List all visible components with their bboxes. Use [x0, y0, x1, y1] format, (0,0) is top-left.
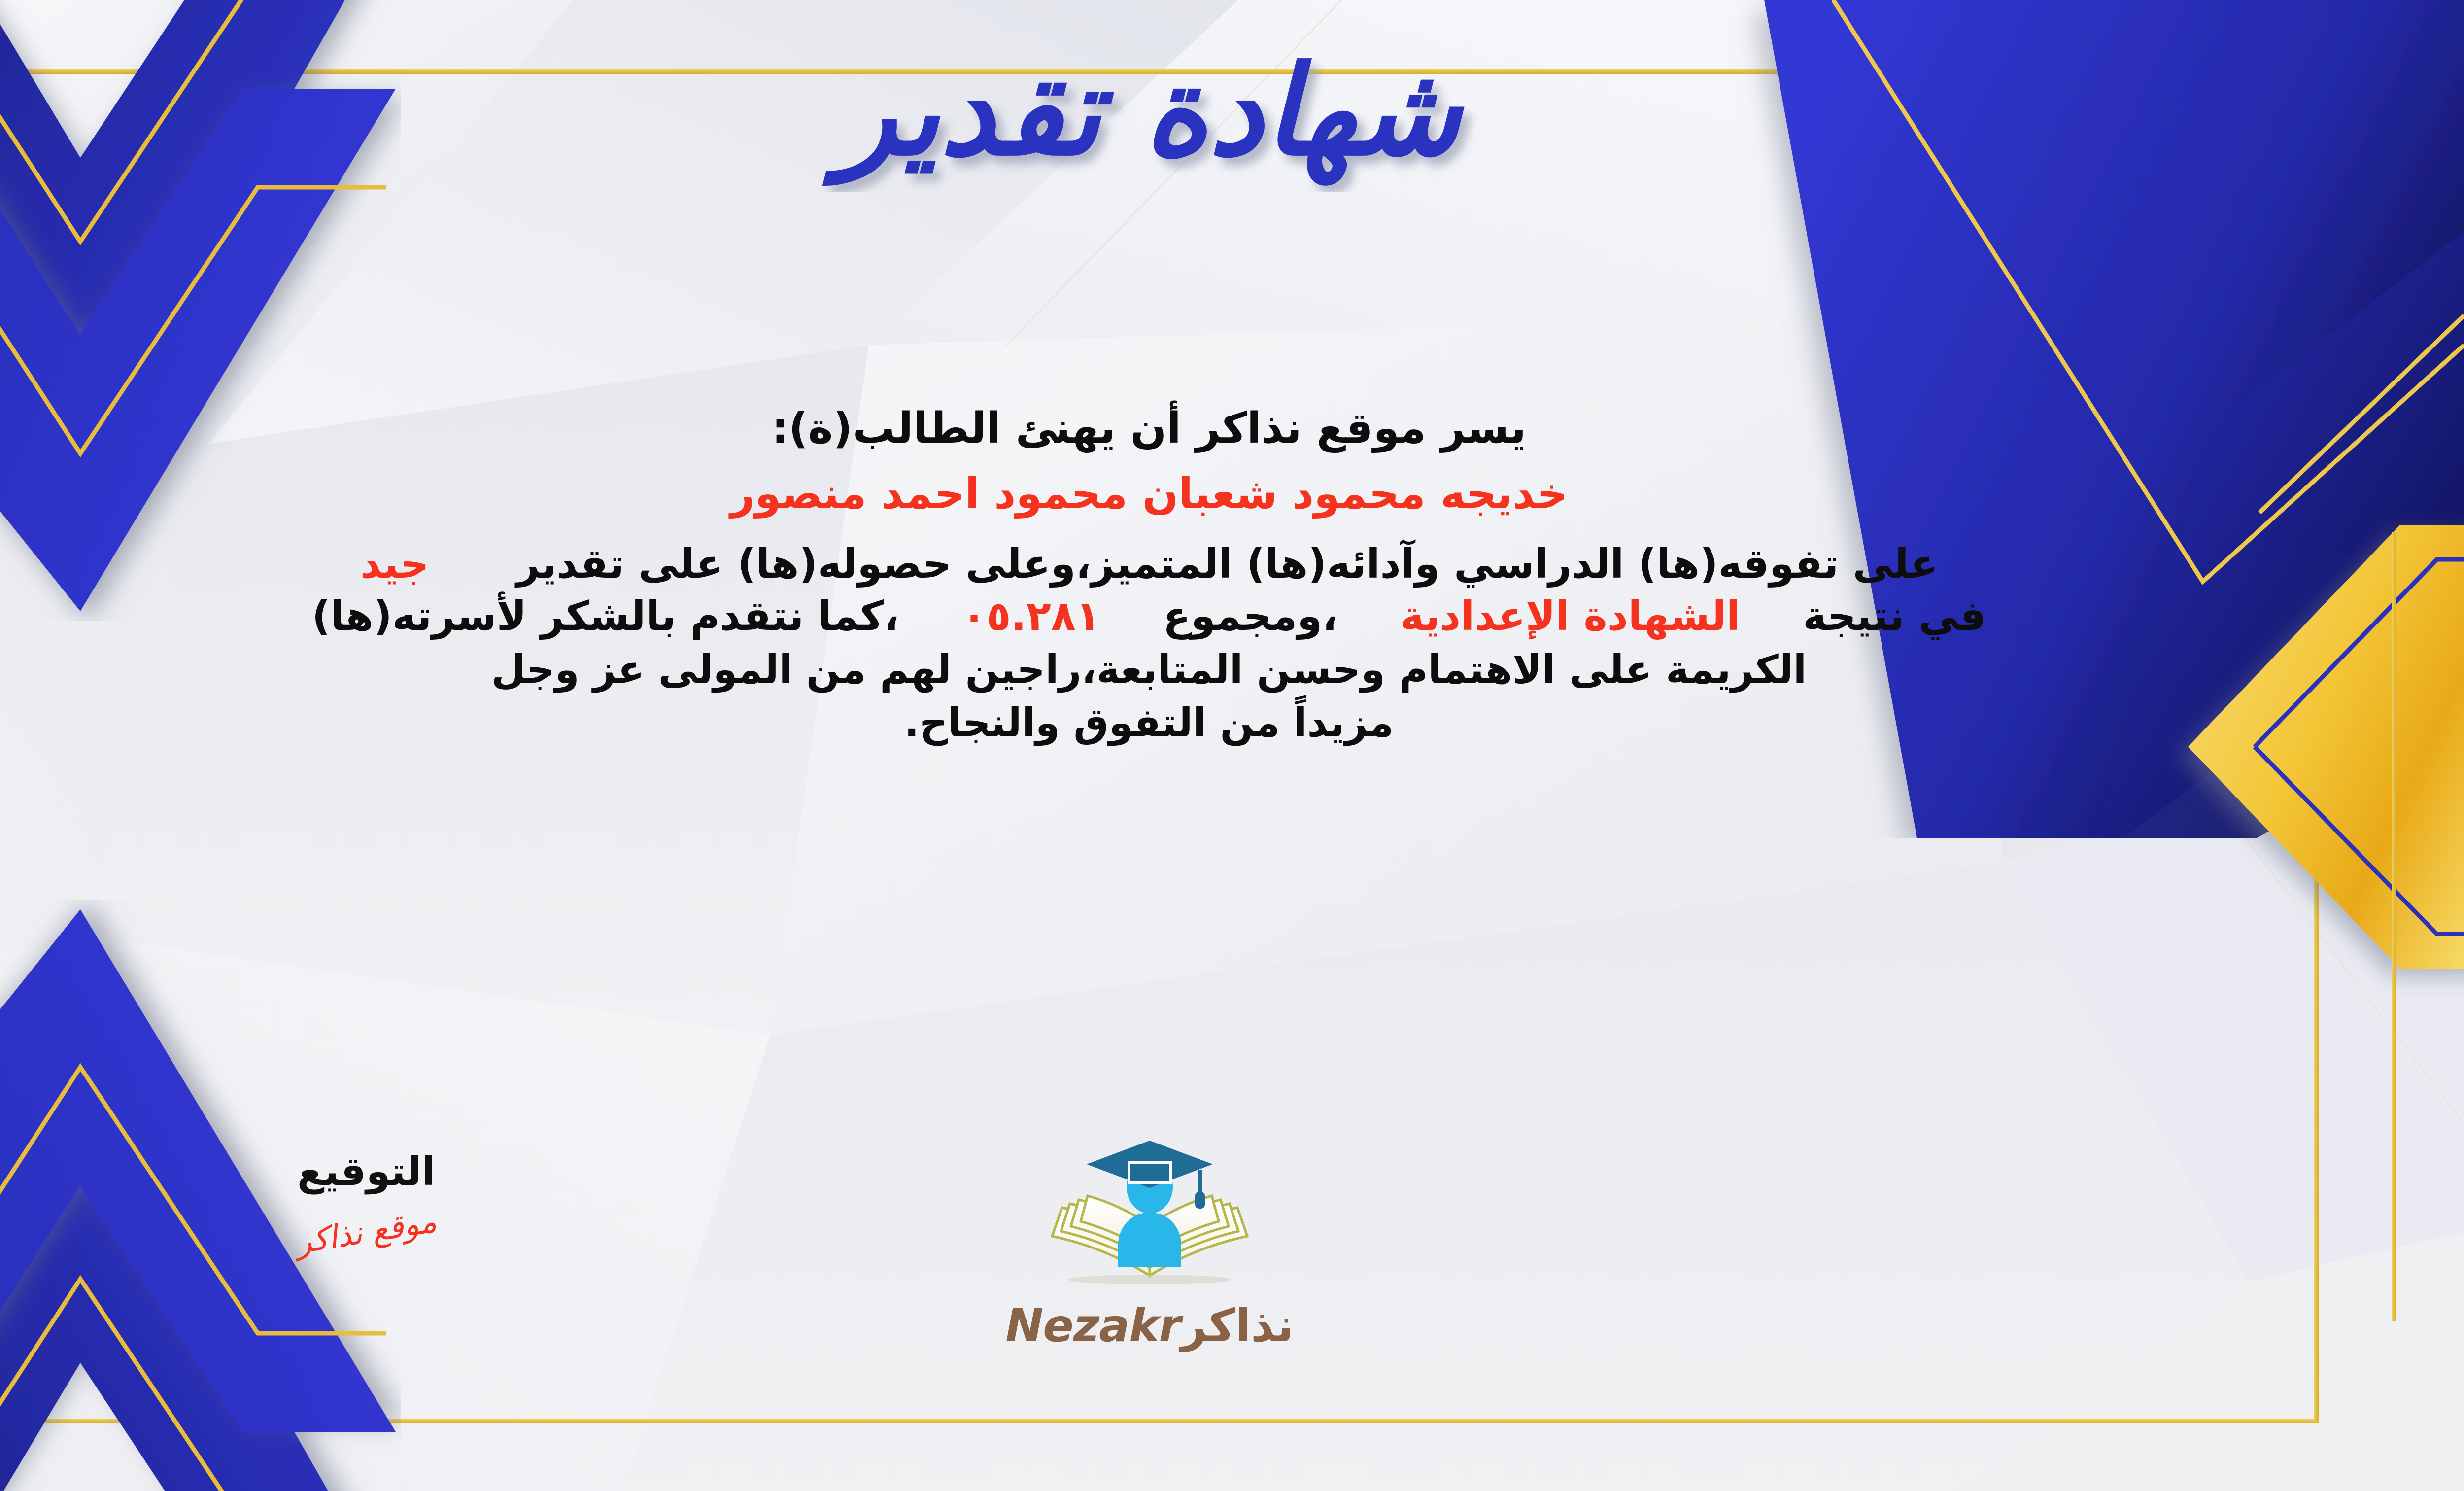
- certificate-content: شهادة تقدير يسر موقع نذاكر أن يهنئ الطال…: [0, 0, 2464, 1491]
- certificate-heading: شهادة تقدير: [0, 30, 2464, 192]
- student-name: خديجه محمود شعبان محمود احمد منصور: [730, 469, 1568, 519]
- certificate-page: شهادة تقدير يسر موقع نذاكر أن يهنئ الطال…: [0, 0, 2464, 1491]
- logo-mark: [1027, 1134, 1273, 1296]
- heading-text: شهادة تقدير: [822, 38, 1466, 186]
- exam-name: الشهادة الإعدادية: [1401, 593, 1741, 640]
- intro-line: يسر موقع نذاكر أن يهنئ الطالب(ة):: [0, 404, 2361, 453]
- logo-wordmark: نذاكرNezakr: [945, 1299, 1354, 1352]
- site-logo: نذاكرNezakr: [945, 1134, 1354, 1352]
- total-score: ١٨٢.٥٠: [961, 593, 1100, 640]
- total-label: ،ومجموع: [1163, 593, 1337, 640]
- signature-block: التوقيع موقع نذاكر: [213, 1148, 519, 1250]
- intro-text: يسر موقع نذاكر أن يهنئ الطالب(ة):: [772, 404, 1526, 453]
- wishes-text: مزيداً من التفوق والنجاح.: [904, 700, 1394, 746]
- heading-calligraphy: شهادة تقدير: [755, 30, 1543, 192]
- grade-value: جيد: [360, 541, 429, 588]
- thanks-text: ،كما نتقدم بالشكر لأسرته(ها): [312, 593, 899, 640]
- wishes-line: مزيداً من التفوق والنجاح.: [0, 696, 2361, 750]
- student-name-line: خديجه محمود شعبان محمود احمد منصور: [0, 470, 2361, 519]
- exam-prefix: في نتيجة: [1803, 593, 1986, 640]
- logo-wordmark-arabic: نذاكر: [1181, 1299, 1294, 1352]
- family-thanks-line: الكريمة على الاهتمام وحسن المتابعة،راجين…: [0, 643, 2361, 696]
- signature-handwriting: موقع نذاكر: [212, 1190, 520, 1274]
- signature-label: التوقيع: [213, 1148, 519, 1194]
- certificate-body: يسر موقع نذاكر أن يهنئ الطالب(ة): خديجه …: [0, 404, 2361, 750]
- achievement-line: على تفوقه(ها) الدراسي وآدائه(ها) المتميز…: [0, 538, 2361, 591]
- family-thanks-text: الكريمة على الاهتمام وحسن المتابعة،راجين…: [491, 647, 1807, 693]
- logo-wordmark-latin: Nezakr: [1005, 1299, 1181, 1352]
- achievement-text: على تفوقه(ها) الدراسي وآدائه(ها) المتميز…: [516, 541, 1938, 588]
- exam-result-line: في نتيجة الشهادة الإعدادية ،ومجموع ١٨٢.٥…: [0, 590, 2361, 643]
